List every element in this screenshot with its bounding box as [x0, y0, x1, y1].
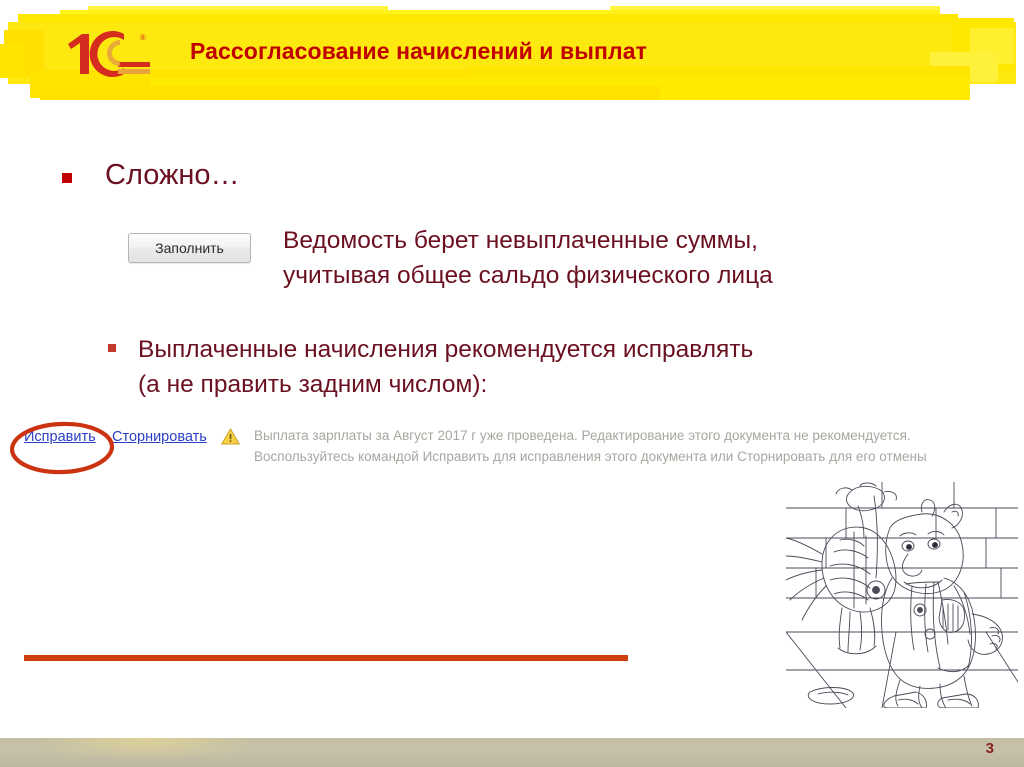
page-number: 3	[986, 740, 994, 757]
warning-triangle-icon	[221, 428, 240, 445]
page-title: Рассогласование начислений и выплат	[190, 38, 647, 65]
bullet-item-2-line-2: (а не править задним числом):	[138, 368, 753, 403]
square-bullet-icon	[108, 344, 116, 352]
warning-message-line-2: Воспользуйтесь командой Исправить для ис…	[254, 447, 927, 468]
paragraph-1-line-2: учитывая общее сальдо физического лица	[283, 259, 773, 294]
bullet-item-1: Сложно…	[62, 160, 240, 192]
footer-glow	[30, 738, 260, 760]
red-divider-rule	[24, 655, 628, 661]
warning-message-line-1: Выплата зарплаты за Август 2017 г уже пр…	[254, 426, 927, 447]
link-ispravit[interactable]: Исправить	[24, 429, 96, 445]
app-screenshot-strip: Исправить Сторнировать Выплата зарплаты …	[18, 424, 978, 474]
square-bullet-icon	[62, 173, 72, 183]
fill-button[interactable]: Заполнить	[128, 233, 251, 263]
bullet-item-2: Выплаченные начисления рекомендуется исп…	[108, 333, 753, 403]
fill-button-label: Заполнить	[155, 240, 224, 256]
bullet-item-2-line-1: Выплаченные начисления рекомендуется исп…	[138, 333, 753, 368]
onec-logo-icon: ®	[62, 28, 154, 78]
paragraph-1-line-1: Ведомость берет невыплаченные суммы,	[283, 224, 773, 259]
warning-message: Выплата зарплаты за Август 2017 г уже пр…	[254, 426, 927, 467]
highlight-stroke	[0, 44, 26, 78]
paragraph-1: Ведомость берет невыплаченные суммы, учи…	[283, 224, 773, 294]
slide: ® Рассогласование начислений и выплат Сл…	[0, 0, 1024, 767]
registered-mark: ®	[140, 33, 146, 42]
highlight-stroke	[40, 86, 660, 100]
cartoon-illustration	[786, 482, 1018, 708]
bullet-item-2-text: Выплаченные начисления рекомендуется исп…	[138, 333, 753, 403]
bullet-item-1-label: Сложно…	[105, 160, 240, 192]
link-stornirovat[interactable]: Сторнировать	[112, 429, 207, 445]
header-banner: ® Рассогласование начислений и выплат	[0, 0, 1024, 112]
